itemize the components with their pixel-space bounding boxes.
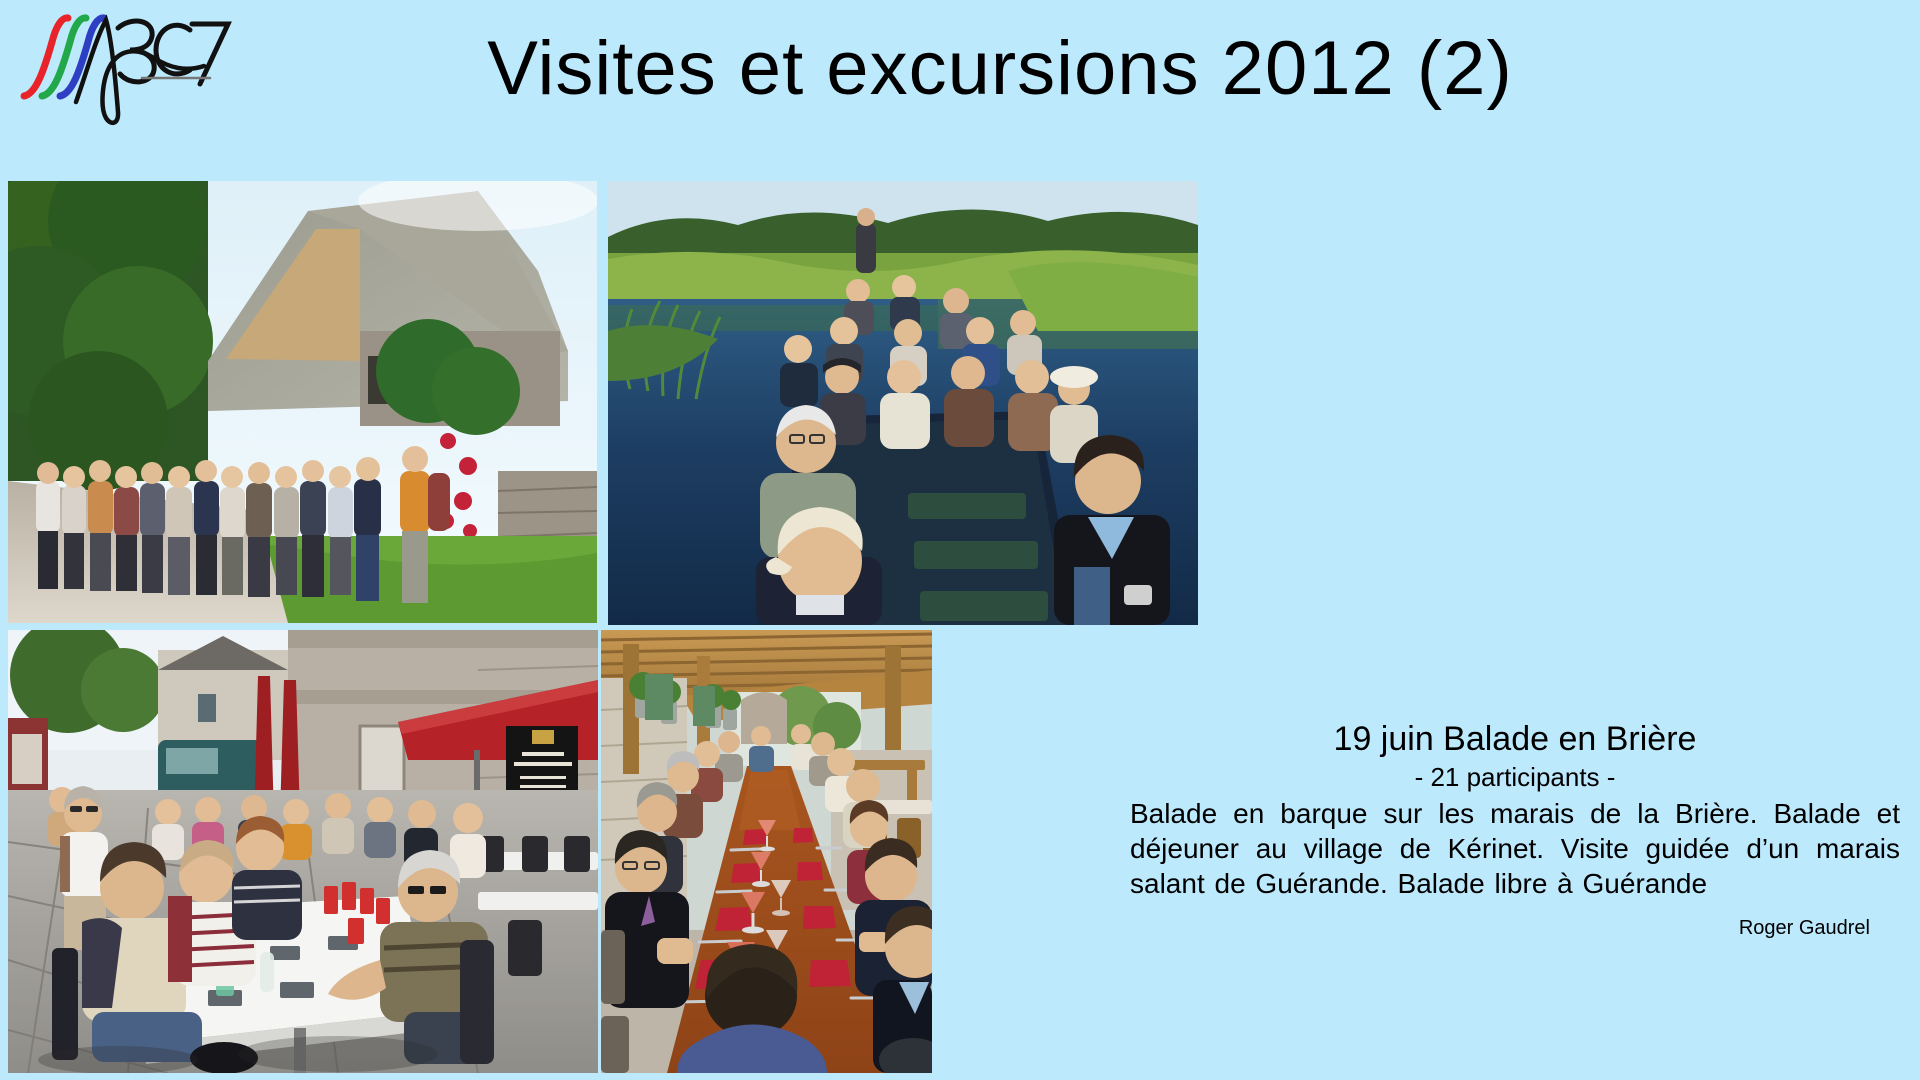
- boat-ride-marsh: [608, 181, 1198, 625]
- page-title: Visites et excursions 2012 (2): [300, 14, 1700, 124]
- banquet-table-pergola: [601, 630, 932, 1073]
- caption-signature: Roger Gaudrel: [1130, 915, 1900, 941]
- cafe-terrace-lunch: [8, 630, 598, 1073]
- group-photo-thatched-cottage: [8, 181, 597, 623]
- caption-heading: 19 juin Balade en Brière: [1130, 718, 1900, 760]
- caption-body: Balade en barque sur les marais de la Br…: [1130, 796, 1900, 901]
- caption-block: 19 juin Balade en Brière - 21 participan…: [1130, 718, 1900, 941]
- a3c7-logo: [14, 8, 254, 128]
- slide-canvas: Visites et excursions 2012 (2): [0, 0, 1920, 1080]
- caption-participants: - 21 participants -: [1130, 760, 1900, 794]
